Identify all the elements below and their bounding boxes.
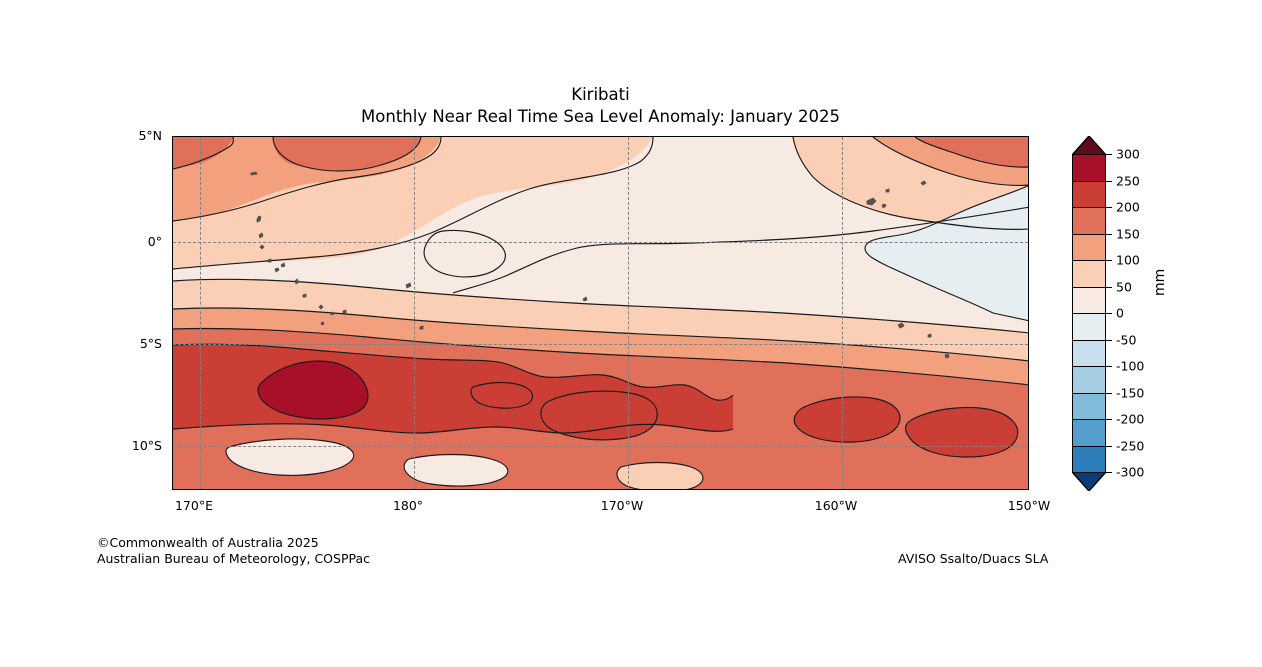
colorbar-band-150-100: [1073, 235, 1105, 262]
colorbar-tick-neg200: [1106, 419, 1112, 420]
colorbar-label-neg150: -150: [1116, 385, 1144, 400]
colorbar-tick-neg300: [1106, 472, 1112, 473]
colorbar-band-neg100-neg150: [1073, 367, 1105, 394]
ytick-label-10s: 10°S: [100, 438, 162, 453]
colorbar-gradient: [1072, 154, 1106, 472]
region-title: Kiribati: [172, 84, 1029, 106]
colorbar-label-200: 200: [1116, 200, 1140, 215]
ytick-label-5n: 5°N: [100, 128, 162, 143]
sea-level-anomaly-contour-field: [173, 137, 1029, 490]
colorbar-band-neg200-neg250: [1073, 420, 1105, 447]
colorbar-label-50: 50: [1116, 279, 1132, 294]
colorbar-band-300-250: [1073, 155, 1105, 182]
colorbar-label-0: 0: [1116, 306, 1124, 321]
colorbar-tick-300: [1106, 154, 1112, 155]
colorbar-band-neg250-neg300: [1073, 447, 1105, 474]
colorbar-tick-neg150: [1106, 393, 1112, 394]
colorbar-label-150: 150: [1116, 226, 1140, 241]
chart-title-block: Kiribati Monthly Near Real Time Sea Leve…: [172, 84, 1029, 128]
colorbar-tick-neg250: [1106, 446, 1112, 447]
colorbar-tick-0: [1106, 313, 1112, 314]
colorbar-band-0-neg50: [1073, 314, 1105, 341]
ytick-label-0: 0°: [100, 234, 162, 249]
colorbar-tick-200: [1106, 207, 1112, 208]
figure-canvas: Kiribati Monthly Near Real Time Sea Leve…: [0, 0, 1262, 667]
xtick-label-170w: 170°W: [577, 498, 667, 513]
footer-agency: Australian Bureau of Meteorology, COSPPa…: [97, 551, 370, 567]
xtick-label-180: 180°: [363, 498, 453, 513]
colorbar-band-neg150-neg200: [1073, 394, 1105, 421]
colorbar-band-200-150: [1073, 208, 1105, 235]
colorbar-label-neg100: -100: [1116, 359, 1144, 374]
footer-copyright: ©Commonwealth of Australia 2025: [97, 535, 370, 551]
chart-title: Monthly Near Real Time Sea Level Anomaly…: [172, 106, 1029, 128]
colorbar-tick-50: [1106, 287, 1112, 288]
colorbar-label-neg250: -250: [1116, 438, 1144, 453]
colorbar-label-100: 100: [1116, 253, 1140, 268]
colorbar-over-arrow: [1072, 136, 1106, 155]
colorbar-band-250-200: [1073, 182, 1105, 209]
footer-attribution: ©Commonwealth of Australia 2025 Australi…: [97, 535, 370, 566]
colorbar-label-250: 250: [1116, 173, 1140, 188]
colorbar-band-100-50: [1073, 261, 1105, 288]
colorbar-under-arrow: [1072, 472, 1106, 491]
colorbar-label-300: 300: [1116, 147, 1140, 162]
colorbar-label-neg300: -300: [1116, 465, 1144, 480]
colorbar-tick-150: [1106, 234, 1112, 235]
xtick-label-170e: 170°E: [149, 498, 239, 513]
colorbar-band-neg50-neg100: [1073, 341, 1105, 368]
colorbar[interactable]: 300 250 200 150 100 50 0 -50 -100 -150 -…: [1072, 136, 1106, 490]
xtick-label-150w: 150°W: [984, 498, 1074, 513]
map-plot-area[interactable]: [172, 136, 1029, 490]
footer-data-source: AVISO Ssalto/Duacs SLA: [898, 551, 1048, 566]
colorbar-tick-100: [1106, 260, 1112, 261]
colorbar-label-neg200: -200: [1116, 412, 1144, 427]
colorbar-label-neg50: -50: [1116, 332, 1136, 347]
colorbar-tick-250: [1106, 181, 1112, 182]
colorbar-tick-neg100: [1106, 366, 1112, 367]
colorbar-tick-neg50: [1106, 340, 1112, 341]
colorbar-unit-label: mm: [1152, 269, 1168, 296]
xtick-label-160w: 160°W: [791, 498, 881, 513]
ytick-label-5s: 5°S: [100, 336, 162, 351]
colorbar-band-50-0: [1073, 288, 1105, 315]
